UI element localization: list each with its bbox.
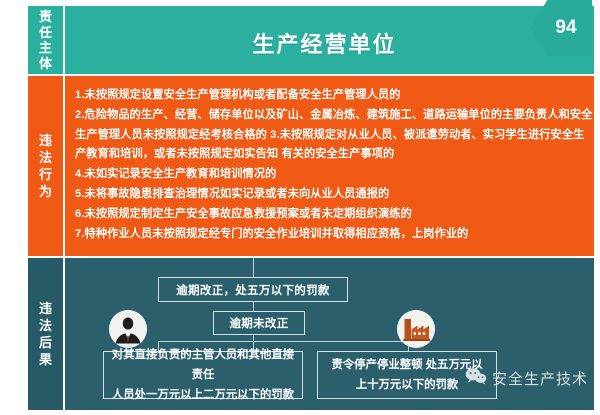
- consequences-flow: 逾期改正，处五万以下的罚款 逾期未改正 对其直接负责的主管人员和其他直接责任 人…: [65, 258, 594, 410]
- connector-box1-to-box2: [253, 302, 254, 311]
- flow-box-personal-penalty-line2: 人员处一万元以上二万元以下的罚款: [110, 385, 296, 405]
- wechat-icon: [465, 367, 487, 390]
- flow-box-personal-penalty: 对其直接负责的主管人员和其他直接责任 人员处一万元以上二万元以下的罚款: [103, 351, 303, 399]
- connector-top-stem: [253, 258, 254, 277]
- row-label-responsible-party: 责任主体: [28, 6, 64, 74]
- flow-box-not-corrected-text: 逾期未改正: [214, 315, 304, 331]
- violations-list: 1.未按照规定设置安全生产管理机构或者配备安全生产管理人员的 2.危险物品的生产…: [65, 76, 594, 256]
- header-title-band: 生产经营单位: [65, 6, 594, 74]
- flow-box-company-penalty-line1: 责令停产停业整顿 处五万元以: [331, 359, 482, 371]
- factory-icon: [397, 310, 435, 348]
- page-number-badge-text: 94: [545, 17, 576, 39]
- page-title: 生产经营单位: [252, 27, 396, 59]
- person-icon: [109, 310, 147, 348]
- flow-box-not-corrected: 逾期未改正: [213, 311, 305, 335]
- header-row: 责任主体 生产经营单位 94: [28, 6, 594, 74]
- flow-box-personal-penalty-line1: 对其直接负责的主管人员和其他直接责任: [112, 349, 294, 381]
- violation-line: 5.未将事故隐患排查治理情况如实记录或者未向从业人员通报的: [75, 185, 586, 205]
- consequences-row: 违法后果 逾期改正，处五万以下的罚款 逾期未改正 对其直接: [28, 258, 594, 410]
- row-label-violations: 违法行为: [28, 76, 64, 256]
- row-label-consequences: 违法后果: [28, 258, 64, 410]
- row-label-consequences-text: 违法后果: [39, 300, 53, 368]
- violation-line: 7.特种作业人员未按照规定经专门的安全作业培训并取得相应资格，上岗作业的: [75, 225, 586, 245]
- flow-box-overdue-correction-text: 逾期改正，处五万以下的罚款: [159, 282, 347, 298]
- violation-line: 产教育和培训，或者未按照规定如实告知 有关的安全生产事项的: [75, 145, 586, 165]
- connector-split-horizontal: [158, 341, 408, 342]
- watermark-text: 安全生产技术: [492, 368, 588, 389]
- flow-box-personal-penalty-text: 对其直接负责的主管人员和其他直接责任 人员处一万元以上二万元以下的罚款: [110, 345, 296, 405]
- violations-row: 违法行为 1.未按照规定设置安全生产管理机构或者配备安全生产管理人员的 2.危险…: [28, 76, 594, 256]
- violation-line: 1.未按照规定设置安全生产管理机构或者配备安全生产管理人员的: [75, 86, 586, 106]
- row-label-violations-text: 违法行为: [39, 132, 53, 200]
- watermark: 安全生产技术: [465, 367, 588, 390]
- row-label-responsible-party-text: 责任主体: [39, 9, 53, 71]
- violation-line: 4.未如实记录安全生产教育和培训情况的: [75, 165, 586, 185]
- violation-line: 生产管理人员未按照规定经考核合格的 3.未按照规定对从业人员、被派遣劳动者、实习…: [75, 126, 586, 146]
- violation-line: 2.危险物品的生产、经营、储存单位以及矿山、金属冶炼、建筑施工、道路运输单位的主…: [75, 106, 586, 126]
- infographic-root: 责任主体 生产经营单位 94 违法行为 1.未按照规定设置安全生产管理机构或者配…: [0, 0, 600, 415]
- violation-line: 6.未按照规定制定生产安全事故应急救援预案或者未定期组织演练的: [75, 205, 586, 225]
- flow-box-overdue-correction: 逾期改正，处五万以下的罚款: [158, 277, 348, 302]
